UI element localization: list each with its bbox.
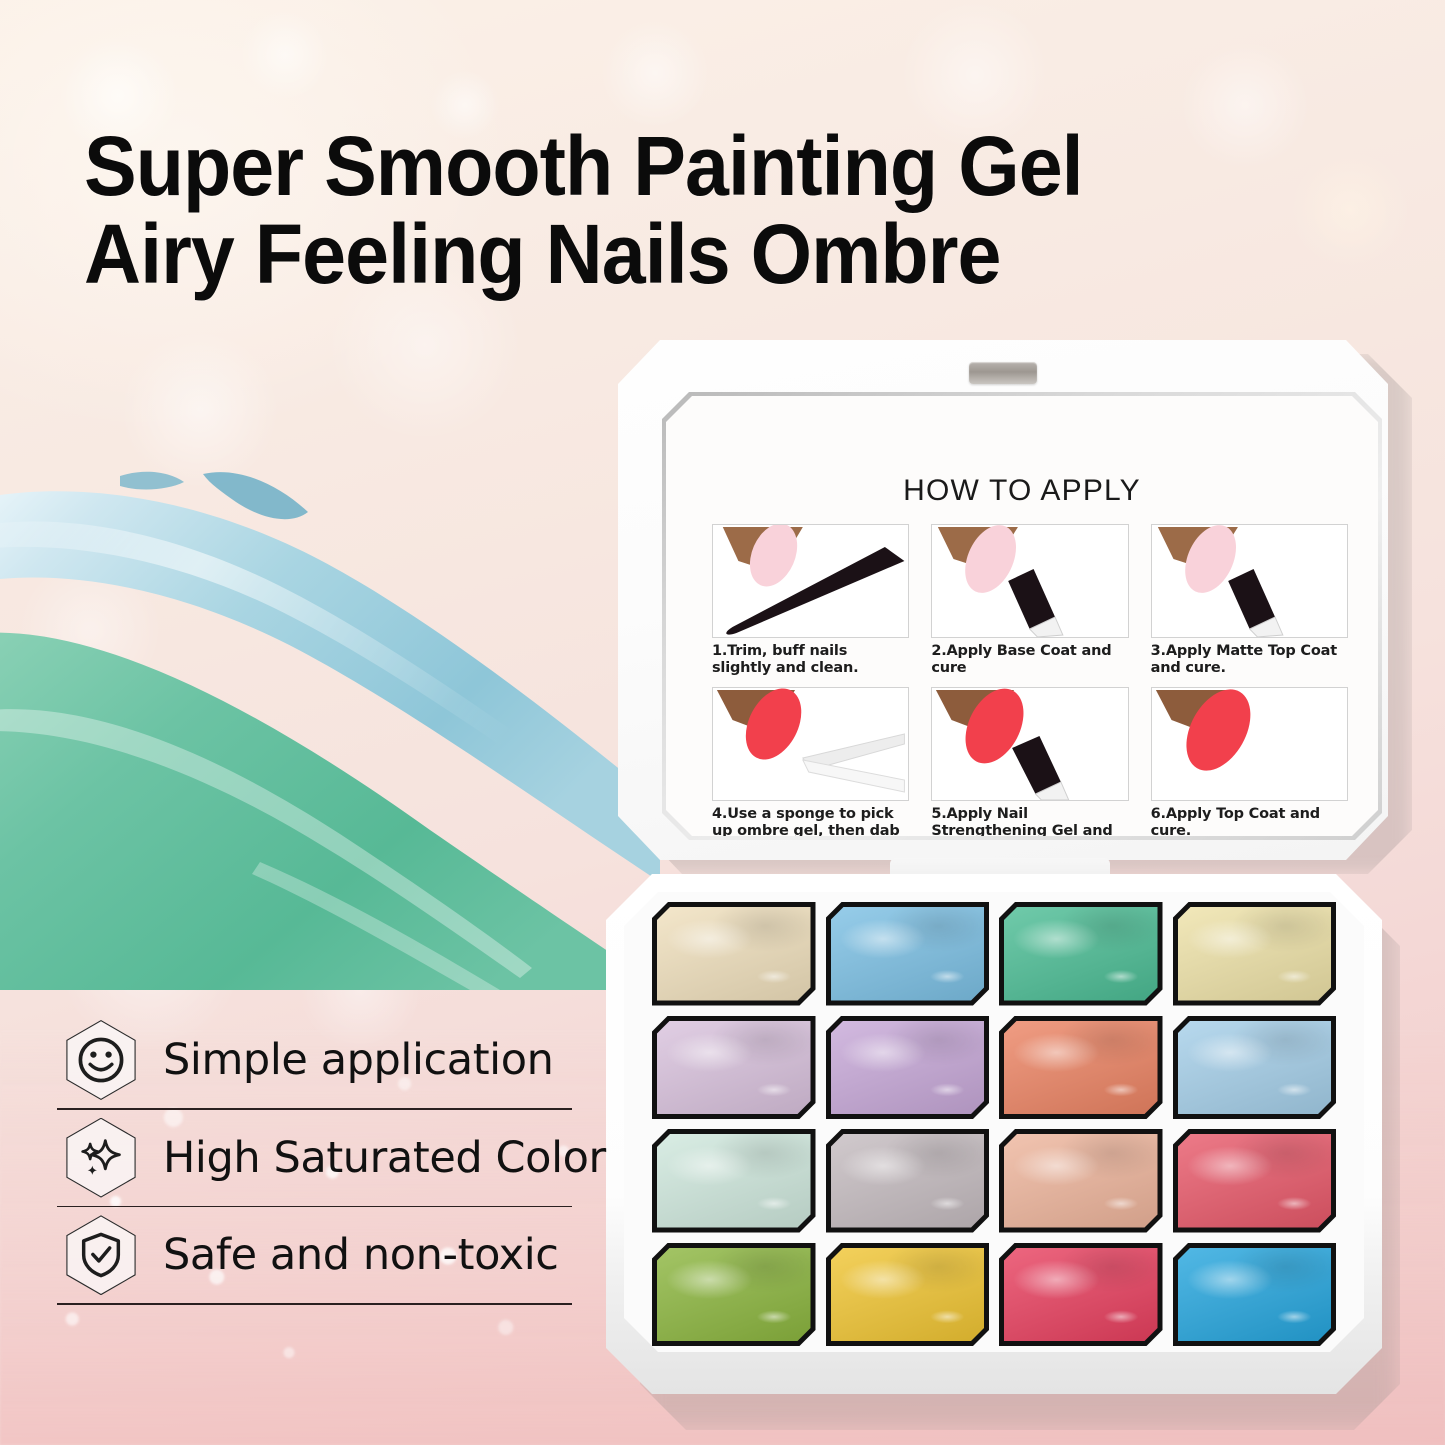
case-lid: HOW TO APPLY 1.Trim, buff nails slightly… (618, 340, 1388, 860)
swatch-color-coral (1004, 1021, 1158, 1115)
swatch-well[interactable] (1173, 1016, 1337, 1120)
instruction-step: 2.Apply Base Coat and cure (931, 524, 1128, 677)
instruction-step: 5.Apply Nail Strengthening Gel and cure. (931, 687, 1128, 874)
swatch-color-olive-green (657, 1248, 811, 1342)
swatch-well[interactable] (652, 1243, 816, 1347)
feature-item-high-saturated-color: High Saturated Color (55, 1110, 615, 1206)
step-illustration-sponge-ombre (712, 687, 909, 801)
swatch-color-warm-grey (831, 1134, 985, 1228)
swatch-color-jade-green (1004, 907, 1158, 1001)
swatch-color-mint (657, 1134, 811, 1228)
shield-check-icon (75, 1229, 127, 1281)
swatch-color-golden-yellow (831, 1248, 985, 1342)
sparkles-icon (75, 1132, 127, 1184)
smiley-icon (75, 1034, 127, 1086)
step-caption: 6.Apply Top Coat and cure. (1151, 806, 1348, 840)
instruction-steps-grid: 1.Trim, buff nails slightly and clean. (712, 524, 1348, 875)
swatch-color-peach (1004, 1134, 1158, 1228)
swatch-well[interactable] (1173, 1243, 1337, 1347)
step-caption: 1.Trim, buff nails slightly and clean. (712, 643, 909, 677)
swatch-well[interactable] (652, 902, 816, 1006)
step-illustration-base-coat (931, 524, 1128, 638)
swatch-well[interactable] (999, 1016, 1163, 1120)
swatch-color-sky-blue (831, 907, 985, 1001)
swatch-well[interactable] (999, 1243, 1163, 1347)
step-illustration-top-coat (1151, 687, 1348, 801)
instruction-step: 6.Apply Top Coat and cure. (1151, 687, 1348, 874)
swatch-well[interactable] (1173, 902, 1337, 1006)
feature-label: Simple application (163, 1035, 554, 1085)
swatch-well[interactable] (1173, 1129, 1337, 1233)
instruction-step: 1.Trim, buff nails slightly and clean. (712, 524, 909, 677)
poster-canvas: Super Smooth Painting Gel Airy Feeling N… (0, 0, 1445, 1445)
instruction-step: 3.Apply Matte Top Coat and cure. (1151, 524, 1348, 677)
swatch-well[interactable] (999, 902, 1163, 1006)
swatch-well[interactable] (826, 1129, 990, 1233)
step-illustration-matte-top-coat (1151, 524, 1348, 638)
feature-list: Simple application High Saturated Color (55, 1012, 615, 1305)
swatch-color-lilac (657, 1021, 811, 1115)
how-to-apply-title: HOW TO APPLY (666, 474, 1378, 508)
lid-instruction-panel: HOW TO APPLY 1.Trim, buff nails slightly… (666, 396, 1378, 836)
swatch-color-pale-yellow (1178, 907, 1332, 1001)
swatch-color-azure-blue (1178, 1248, 1332, 1342)
swatch-well[interactable] (652, 1016, 816, 1120)
swatch-color-rose-red (1004, 1248, 1158, 1342)
swatch-well[interactable] (826, 1243, 990, 1347)
instruction-step: 4.Use a sponge to pick up ombre gel, the… (712, 687, 909, 874)
clasp-icon (969, 362, 1037, 384)
feature-label: High Saturated Color (163, 1133, 606, 1183)
swatch-color-lavender-purple (831, 1021, 985, 1115)
swatch-color-watermelon-red (1178, 1134, 1332, 1228)
step-caption: 2.Apply Base Coat and cure (931, 643, 1128, 677)
swatch-well[interactable] (826, 1016, 990, 1120)
step-caption: 3.Apply Matte Top Coat and cure. (1151, 643, 1348, 677)
gel-palette-case: HOW TO APPLY 1.Trim, buff nails slightly… (600, 340, 1400, 1430)
step-illustration-strengthening-gel (931, 687, 1128, 801)
swatch-well[interactable] (652, 1129, 816, 1233)
hexagon-badge (55, 1209, 147, 1301)
hexagon-badge (55, 1112, 147, 1204)
step-caption: 5.Apply Nail Strengthening Gel and cure. (931, 806, 1128, 857)
swatch-well[interactable] (826, 902, 990, 1006)
swatch-color-cream (657, 907, 811, 1001)
step-illustration-nail-file (712, 524, 909, 638)
feature-item-simple-application: Simple application (55, 1012, 615, 1108)
feature-label: Safe and non-toxic (163, 1230, 558, 1280)
feature-item-safe-non-toxic: Safe and non-toxic (55, 1207, 615, 1303)
feature-divider (57, 1303, 572, 1305)
hexagon-badge (55, 1014, 147, 1106)
color-swatch-grid (652, 902, 1336, 1346)
swatch-color-baby-blue (1178, 1021, 1332, 1115)
swatch-well[interactable] (999, 1129, 1163, 1233)
page-title: Super Smooth Painting Gel Airy Feeling N… (84, 122, 1306, 298)
